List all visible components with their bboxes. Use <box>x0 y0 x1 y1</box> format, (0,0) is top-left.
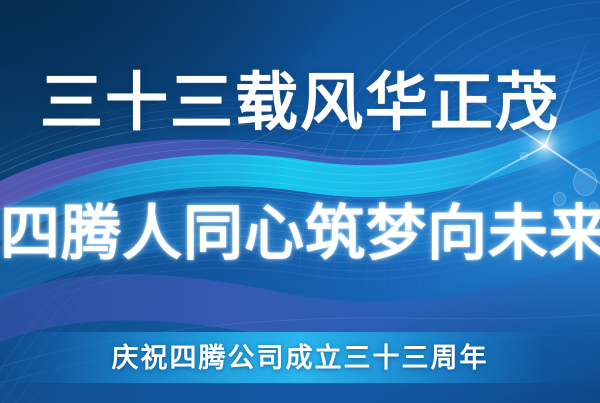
headline-line-1: 三十三载风华正茂 <box>0 64 600 142</box>
subtitle-text: 庆祝四腾公司成立三十三周年 <box>0 340 600 376</box>
anniversary-banner: 三十三载风华正茂 四腾人同心筑梦向未来 庆祝四腾公司成立三十三周年 <box>0 0 600 403</box>
headline-line-2: 四腾人同心筑梦向未来 <box>0 196 600 272</box>
